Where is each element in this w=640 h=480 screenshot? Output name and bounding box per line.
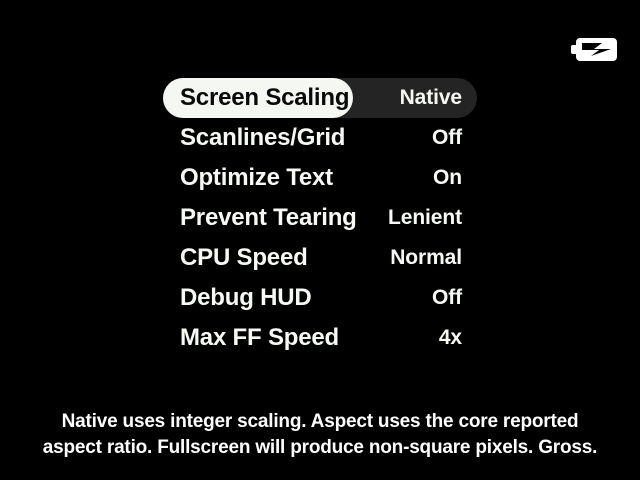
footer-line-1: Native uses integer scaling. Aspect uses… [0,409,640,435]
footer-help-text: Native uses integer scaling. Aspect uses… [0,409,640,461]
menu-row-value[interactable]: On [433,166,477,190]
menu-row[interactable]: Scanlines/GridOff [163,118,477,158]
menu-row[interactable]: Debug HUDOff [163,278,477,318]
menu-row[interactable]: Screen ScalingNative [163,78,477,118]
menu-row[interactable]: Max FF Speed4x [163,318,477,358]
menu-screen: Screen ScalingNativeScanlines/GridOffOpt… [0,0,640,480]
footer-line-2: aspect ratio. Fullscreen will produce no… [0,435,640,461]
menu-row[interactable]: Optimize TextOn [163,158,477,198]
menu-row[interactable]: CPU SpeedNormal [163,238,477,278]
settings-menu-list[interactable]: Screen ScalingNativeScanlines/GridOffOpt… [163,78,477,358]
menu-row-value[interactable]: 4x [439,326,477,350]
menu-row-label: Debug HUD [163,284,312,312]
menu-row-value[interactable]: Lenient [388,206,477,230]
status-bar [0,0,640,78]
menu-row-label: CPU Speed [163,244,308,272]
menu-row-value[interactable]: Normal [390,246,477,270]
menu-row-value[interactable]: Native [400,86,477,110]
menu-row-label: Optimize Text [163,164,333,192]
menu-row-label: Prevent Tearing [163,204,357,232]
battery-bolt-icon [580,41,613,58]
battery-charging-icon [571,38,617,61]
menu-row[interactable]: Prevent TearingLenient [163,198,477,238]
menu-row-value[interactable]: Off [432,286,477,310]
menu-row-value[interactable]: Off [432,126,477,150]
menu-row-label: Scanlines/Grid [163,124,345,152]
menu-row-label: Screen Scaling [163,84,349,112]
menu-row-label: Max FF Speed [163,324,339,352]
